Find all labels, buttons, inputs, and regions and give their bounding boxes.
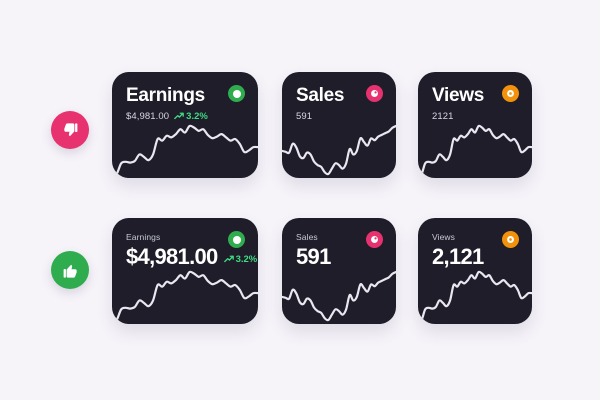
metric-delta-value: 3.2% xyxy=(186,111,208,122)
thumbs-up-button[interactable] xyxy=(51,251,89,289)
metric-value: 2,121 xyxy=(432,245,484,269)
metrics-row-top: Earnings $4,981.00 3.2% xyxy=(112,72,532,178)
metric-value: $4,981.00 xyxy=(126,245,218,269)
metric-card-earnings[interactable]: Earnings $4,981.00 3.2% xyxy=(112,218,258,324)
metric-delta-value: 3.2% xyxy=(236,254,258,265)
trend-up-icon xyxy=(224,254,234,264)
metric-meta: 591 xyxy=(296,245,382,269)
metric-value: 2121 xyxy=(432,111,454,122)
metric-value: 591 xyxy=(296,245,331,269)
trend-up-icon xyxy=(174,111,184,121)
metric-delta: 3.2% xyxy=(224,254,258,265)
metrics-row-bottom: Earnings $4,981.00 3.2% xyxy=(112,218,532,324)
metric-meta: 2,121 xyxy=(432,245,518,269)
metric-meta: 2121 xyxy=(432,111,518,122)
metric-value: 591 xyxy=(296,111,312,122)
status-dot-icon xyxy=(233,236,241,244)
sales-sparkline xyxy=(282,120,396,178)
status-badge[interactable] xyxy=(228,231,245,248)
earnings-sparkline xyxy=(112,120,258,178)
metric-label: Earnings xyxy=(126,232,244,242)
metric-meta: 591 xyxy=(296,111,382,122)
thumbs-down-button[interactable] xyxy=(51,111,89,149)
status-glyph-icon xyxy=(370,235,379,244)
metric-title: Earnings xyxy=(126,86,244,106)
status-glyph-icon xyxy=(506,89,515,98)
sales-sparkline xyxy=(282,266,396,324)
status-glyph-icon xyxy=(506,235,515,244)
views-sparkline xyxy=(418,266,532,324)
earnings-sparkline xyxy=(112,266,258,324)
status-badge[interactable] xyxy=(502,85,519,102)
status-glyph-icon xyxy=(370,89,379,98)
thumbs-down-icon xyxy=(61,121,80,140)
dashboard-canvas: Earnings $4,981.00 3.2% xyxy=(0,0,600,400)
status-badge[interactable] xyxy=(502,231,519,248)
status-dot-icon xyxy=(233,90,241,98)
metric-meta: $4,981.00 3.2% xyxy=(126,245,244,269)
metric-card-views[interactable]: Views 2121 xyxy=(418,72,532,178)
metric-card-views[interactable]: Views 2,121 xyxy=(418,218,532,324)
metric-meta: $4,981.00 3.2% xyxy=(126,111,244,122)
metric-delta: 3.2% xyxy=(174,111,208,122)
metric-value: $4,981.00 xyxy=(126,111,169,122)
status-badge[interactable] xyxy=(366,85,383,102)
views-sparkline xyxy=(418,120,532,178)
thumbs-up-icon xyxy=(61,261,80,280)
metric-card-sales[interactable]: Sales 591 xyxy=(282,72,396,178)
status-badge[interactable] xyxy=(366,231,383,248)
metric-card-earnings[interactable]: Earnings $4,981.00 3.2% xyxy=(112,72,258,178)
status-badge[interactable] xyxy=(228,85,245,102)
metric-card-sales[interactable]: Sales 591 xyxy=(282,218,396,324)
